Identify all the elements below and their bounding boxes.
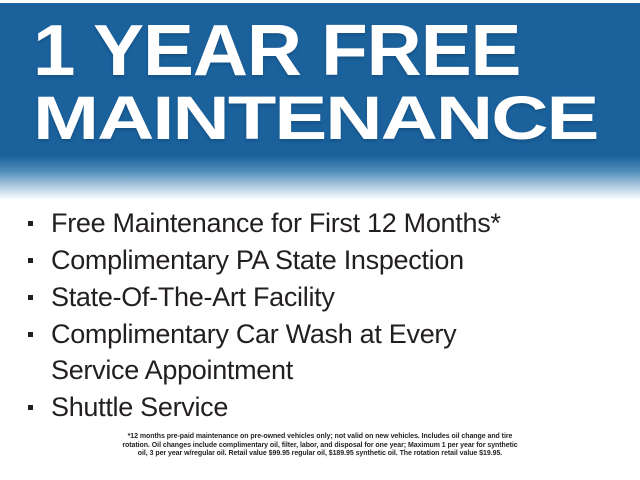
promo-banner: 1 YEAR FREE MAINTENANCE	[0, 3, 640, 200]
disclaimer-text: *12 months pre-paid maintenance on pre-o…	[0, 433, 640, 459]
list-item: State-Of-The-Art Facility	[0, 279, 640, 315]
headline-primary: 1 YEAR FREE	[33, 15, 640, 87]
square-bullet-icon	[28, 221, 33, 226]
list-item: Complimentary PA State Inspection	[0, 242, 640, 278]
square-bullet-icon	[28, 405, 33, 410]
promo-card: 1 YEAR FREE MAINTENANCE Free Maintenance…	[0, 0, 640, 480]
disclaimer-line-2: rotation. Oil changes include compliment…	[22, 442, 618, 451]
list-item-label: Complimentary PA State Inspection	[51, 242, 640, 278]
list-item-label-continuation: Service Appointment	[51, 352, 640, 388]
list-item-label: Free Maintenance for First 12 Months*	[51, 205, 640, 241]
list-item-label: Shuttle Service	[51, 389, 640, 425]
square-bullet-icon	[28, 258, 33, 263]
list-item: Shuttle Service	[0, 389, 640, 425]
disclaimer-line-3: oil, 3 per year w/regular oil. Retail va…	[22, 450, 618, 459]
list-item-label: State-Of-The-Art Facility	[51, 279, 640, 315]
square-bullet-icon	[28, 332, 33, 337]
square-bullet-icon	[28, 295, 33, 300]
list-item: Free Maintenance for First 12 Months*	[0, 205, 640, 241]
list-item-label: Complimentary Car Wash at Every	[51, 316, 640, 352]
headline-secondary: MAINTENANCE	[33, 85, 640, 151]
benefits-list: Free Maintenance for First 12 Months* Co…	[0, 205, 640, 426]
disclaimer-line-1: *12 months pre-paid maintenance on pre-o…	[22, 433, 618, 442]
list-item: Complimentary Car Wash at Every Service …	[0, 316, 640, 388]
